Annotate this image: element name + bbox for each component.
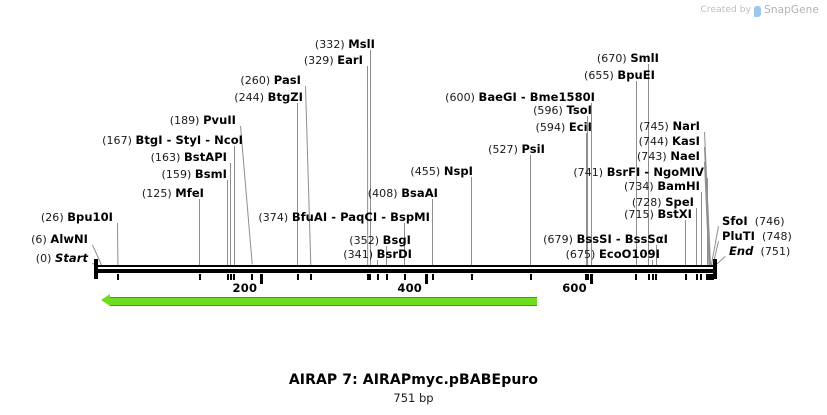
- enzyme-name[interactable]: BamHI: [657, 179, 700, 193]
- enzyme-site-position: (0): [36, 252, 55, 265]
- enzyme-site-label[interactable]: (675) EcoO109I: [566, 248, 660, 261]
- ruler-major-tick: [425, 274, 428, 284]
- enzyme-site-position: (744): [639, 135, 672, 148]
- enzyme-site-position: (374): [258, 211, 291, 224]
- enzyme-name[interactable]: Start: [55, 251, 88, 265]
- enzyme-site-position: (159): [162, 168, 195, 181]
- enzyme-site-label[interactable]: (743) NaeI: [637, 150, 700, 163]
- enzyme-site-position: (715): [624, 208, 657, 221]
- enzyme-site-position: (167): [102, 134, 135, 147]
- enzyme-site-label[interactable]: (408) BsaAI: [368, 187, 438, 200]
- ruler-minor-tick: [227, 274, 229, 280]
- ruler-minor-tick: [199, 274, 201, 280]
- enzyme-site-position: (352): [349, 234, 382, 247]
- sequence-length-label: 751 bp: [0, 391, 827, 405]
- enzyme-site-position: (675): [566, 248, 599, 261]
- leader-line: [701, 192, 702, 265]
- leader-line: [432, 199, 433, 265]
- enzyme-site-position: (655): [584, 69, 617, 82]
- enzyme-name[interactable]: BtgI: [136, 133, 163, 147]
- enzyme-site-label[interactable]: (189) PvuII: [170, 114, 236, 127]
- enzyme-site-position: (596): [533, 104, 566, 117]
- enzyme-site-label[interactable]: (455) NspI: [410, 165, 473, 178]
- enzyme-site-label[interactable]: (596) TsoI: [533, 104, 592, 117]
- leader-line: [370, 50, 371, 265]
- enzyme-name[interactable]: Bme1580I: [530, 90, 595, 104]
- enzyme-name[interactable]: NspI: [444, 164, 473, 178]
- ruler-minor-tick: [530, 274, 532, 280]
- enzyme-site-position: (679): [543, 233, 576, 246]
- enzyme-site-label[interactable]: (594) EciI: [536, 121, 592, 134]
- enzyme-site-label[interactable]: (745) NarI: [639, 120, 700, 133]
- enzyme-name[interactable]: AlwNI: [50, 232, 88, 246]
- ruler-minor-tick: [700, 274, 702, 280]
- ruler-major-tick: [590, 274, 593, 284]
- enzyme-name[interactable]: BaeGI: [479, 90, 517, 104]
- ruler-minor-tick: [696, 274, 698, 280]
- enzyme-site-label[interactable]: (734) BamHI: [624, 180, 700, 193]
- leader-line: [530, 155, 531, 265]
- enzyme-site-position: (408): [368, 187, 401, 200]
- enzyme-site-position: (244): [234, 91, 267, 104]
- enzyme-site-label[interactable]: (6) AlwNI: [31, 233, 88, 246]
- enzyme-site-label[interactable]: SfoI (746): [722, 215, 785, 228]
- enzyme-site-position: (743): [637, 150, 670, 163]
- enzyme-site-label[interactable]: (125) MfeI: [142, 187, 204, 200]
- ruler-minor-tick: [655, 274, 657, 280]
- enzyme-name[interactable]: NcoI: [214, 133, 243, 147]
- leader-line: [227, 180, 228, 265]
- enzyme-name-separator: -: [640, 165, 653, 179]
- ruler-minor-tick: [386, 274, 388, 280]
- enzyme-name[interactable]: SmlI: [630, 51, 659, 65]
- enzyme-site-label[interactable]: (329) EarI: [304, 54, 363, 67]
- enzyme-name-separator: -: [327, 210, 340, 224]
- enzyme-site-label[interactable]: (527) PsiI: [488, 143, 545, 156]
- enzyme-name[interactable]: NaeI: [670, 149, 700, 163]
- enzyme-name[interactable]: KasI: [672, 134, 700, 148]
- enzyme-name[interactable]: PvuII: [203, 113, 236, 127]
- enzyme-site-position: (260): [240, 74, 273, 87]
- enzyme-site-label[interactable]: (0) Start: [36, 252, 88, 265]
- enzyme-site-position: (746): [748, 215, 785, 228]
- enzyme-name[interactable]: StyI: [175, 133, 201, 147]
- enzyme-site-position: (26): [41, 211, 67, 224]
- enzyme-name[interactable]: BfuAI: [292, 210, 327, 224]
- feature-arrow-body[interactable]: [110, 297, 537, 306]
- enzyme-site-label[interactable]: (167) BtgI - StyI - NcoI: [102, 134, 243, 147]
- enzyme-site-position: (728): [632, 196, 665, 209]
- enzyme-site-label[interactable]: PluTI (748): [722, 230, 792, 243]
- enzyme-name[interactable]: EciI: [569, 120, 592, 134]
- ruler-major-tick: [260, 274, 263, 284]
- leader-line: [230, 163, 231, 265]
- sequence-backbone-inner: [95, 267, 716, 269]
- leader-line: [234, 146, 235, 265]
- ruler-minor-tick: [432, 274, 434, 280]
- enzyme-site-label[interactable]: (352) BsgI: [349, 234, 411, 247]
- ruler-label-600: 600: [562, 281, 587, 295]
- enzyme-name-separator: -: [612, 232, 625, 246]
- enzyme-site-position: (6): [31, 233, 50, 246]
- enzyme-name-separator: -: [163, 133, 176, 147]
- ruler-label-400: 400: [397, 281, 422, 295]
- enzyme-site-position: (600): [445, 91, 478, 104]
- enzyme-name[interactable]: PasI: [274, 73, 301, 87]
- enzyme-site-label[interactable]: (341) BsrDI: [343, 248, 412, 261]
- enzyme-site-position: (670): [597, 52, 630, 65]
- enzyme-site-position: (189): [170, 114, 203, 127]
- enzyme-name[interactable]: End: [729, 244, 753, 258]
- ruler-minor-tick: [404, 274, 406, 280]
- enzyme-name[interactable]: MslI: [348, 37, 375, 51]
- enzyme-site-label[interactable]: (679) BssSI - BssSαI: [543, 233, 668, 246]
- enzyme-site-position: (125): [142, 187, 175, 200]
- page-title: AIRAP 7: AIRAPmyc.pBABEpuro: [0, 372, 827, 388]
- enzyme-name[interactable]: BspMI: [390, 210, 430, 224]
- enzyme-name[interactable]: SfoI: [722, 214, 748, 228]
- enzyme-name[interactable]: MfeI: [175, 186, 204, 200]
- ruler-minor-tick: [648, 274, 650, 280]
- enzyme-site-label[interactable]: (374) BfuAI - PaqCI - BspMI: [258, 211, 430, 224]
- enzyme-name[interactable]: BssSαI: [625, 232, 668, 246]
- enzyme-name[interactable]: NarI: [672, 119, 700, 133]
- enzyme-site-label[interactable]: (741) BsrFI - NgoMIV: [573, 166, 704, 179]
- sequence-map: (0) Start(6) AlwNI(26) Bpu10I(125) MfeI(…: [0, 0, 827, 415]
- enzyme-site-label[interactable]: (715) BstXI: [624, 208, 692, 221]
- enzyme-site-label[interactable]: (655) BpuEI: [584, 69, 655, 82]
- enzyme-name[interactable]: TsoI: [566, 103, 592, 117]
- enzyme-site-label[interactable]: (26) Bpu10I: [41, 211, 113, 224]
- enzyme-name-separator: -: [201, 133, 214, 147]
- enzyme-site-position: (734): [624, 180, 657, 193]
- enzyme-name[interactable]: PaqCI: [340, 210, 377, 224]
- ruler-minor-tick: [369, 274, 371, 280]
- leader-line: [199, 199, 200, 265]
- enzyme-name[interactable]: BsrDI: [377, 247, 412, 261]
- ruler-minor-tick: [297, 274, 299, 280]
- enzyme-name[interactable]: BstXI: [657, 207, 692, 221]
- enzyme-name[interactable]: BtgZI: [268, 90, 303, 104]
- ruler-minor-tick: [587, 274, 589, 280]
- enzyme-site-label[interactable]: (159) BsmI: [162, 168, 227, 181]
- leader-line: [117, 223, 118, 265]
- enzyme-name[interactable]: EarI: [337, 53, 363, 67]
- enzyme-name[interactable]: PsiI: [522, 142, 546, 156]
- ruler-label-200: 200: [233, 281, 258, 295]
- enzyme-name-separator: -: [377, 210, 390, 224]
- ruler-minor-tick: [230, 274, 232, 280]
- ruler-minor-tick: [377, 274, 379, 280]
- leader-line: [685, 220, 686, 265]
- enzyme-name-separator: -: [517, 90, 530, 104]
- enzyme-site-label[interactable]: (744) KasI: [639, 135, 700, 148]
- sequence-start-cap: [94, 259, 98, 279]
- ruler-minor-tick: [712, 274, 714, 280]
- ruler-minor-tick: [685, 274, 687, 280]
- title-block: AIRAP 7: AIRAPmyc.pBABEpuro 751 bp: [0, 372, 827, 405]
- feature-arrowhead-icon: [101, 294, 110, 306]
- enzyme-site-position: (163): [151, 151, 184, 164]
- enzyme-site-position: (741): [573, 166, 606, 179]
- ruler-minor-tick: [310, 274, 312, 280]
- enzyme-name[interactable]: BstAPI: [184, 150, 227, 164]
- enzyme-name[interactable]: BsmI: [195, 167, 227, 181]
- enzyme-site-label[interactable]: (260) PasI: [240, 74, 301, 87]
- enzyme-site-position: (594): [536, 121, 569, 134]
- enzyme-name[interactable]: SpeI: [665, 195, 694, 209]
- ruler-minor-tick: [635, 274, 637, 280]
- ruler-minor-tick: [233, 274, 235, 280]
- leader-line: [305, 86, 311, 265]
- enzyme-name[interactable]: Bpu10I: [67, 210, 113, 224]
- enzyme-site-label[interactable]: (670) SmlI: [597, 52, 659, 65]
- enzyme-site-position: (748): [755, 230, 792, 243]
- leader-line: [297, 103, 298, 265]
- enzyme-site-position: (329): [304, 54, 337, 67]
- enzyme-site-label[interactable]: (728) SpeI: [632, 196, 694, 209]
- enzyme-site-label[interactable]: (600) BaeGI - Bme1580I: [445, 91, 595, 104]
- enzyme-name[interactable]: PluTI: [722, 229, 755, 243]
- enzyme-site-position: (751): [753, 245, 790, 258]
- ruler-minor-tick: [251, 274, 253, 280]
- enzyme-name[interactable]: BsgI: [383, 233, 411, 247]
- leader-line: [471, 177, 472, 265]
- enzyme-site-label[interactable]: (163) BstAPI: [151, 151, 227, 164]
- enzyme-site-position: (745): [639, 120, 672, 133]
- enzyme-site-label[interactable]: (332) MslI: [315, 38, 375, 51]
- ruler-minor-tick: [117, 274, 119, 280]
- enzyme-name[interactable]: BsrFI: [607, 165, 641, 179]
- ruler-minor-tick: [471, 274, 473, 280]
- enzyme-name[interactable]: BsaAI: [401, 186, 438, 200]
- enzyme-site-position: (341): [343, 248, 376, 261]
- enzyme-name[interactable]: EcoO109I: [599, 247, 660, 261]
- enzyme-name[interactable]: BssSI: [577, 232, 612, 246]
- enzyme-site-position: (332): [315, 38, 348, 51]
- leader-line: [696, 208, 697, 265]
- enzyme-site-label[interactable]: End (751): [729, 245, 790, 258]
- enzyme-site-position: (455): [410, 165, 443, 178]
- enzyme-name[interactable]: BpuEI: [617, 68, 655, 82]
- ruler-minor-tick: [652, 274, 654, 280]
- enzyme-name[interactable]: NgoMIV: [653, 165, 704, 179]
- enzyme-site-position: (527): [488, 143, 521, 156]
- enzyme-site-label[interactable]: (244) BtgZI: [234, 91, 303, 104]
